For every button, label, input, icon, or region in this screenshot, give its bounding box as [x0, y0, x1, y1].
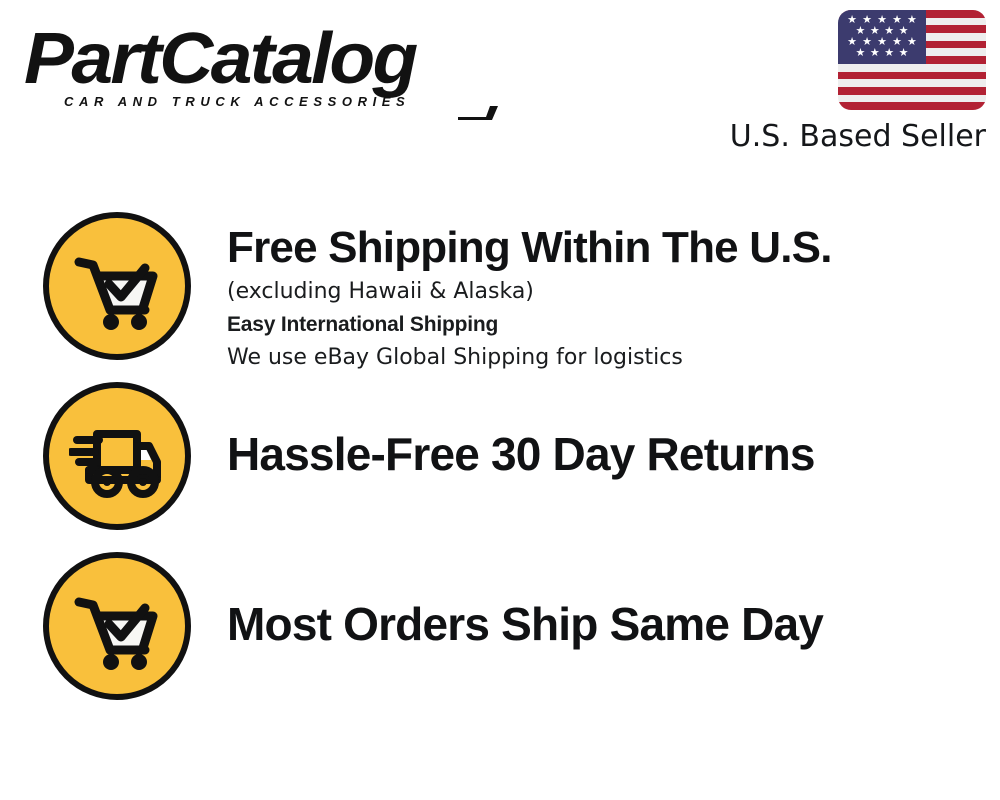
shopping-cart-check-icon	[43, 552, 191, 700]
feature-row: Hassle-Free 30 Day Returns	[0, 382, 1000, 552]
feature-subtitle: We use eBay Global Shipping for logistic…	[227, 342, 1000, 374]
feature-list: Free Shipping Within The U.S. (excluding…	[0, 212, 1000, 722]
us-based-seller-badge: ★★★★★ ★★★★ ★★★★★ ★★★★ U.S. Based Seller	[696, 10, 986, 155]
shopping-cart-check-icon	[43, 212, 191, 360]
fast-delivery-truck-icon	[43, 382, 191, 530]
us-flag-icon: ★★★★★ ★★★★ ★★★★★ ★★★★	[838, 10, 986, 110]
feature-title: Free Shipping Within The U.S.	[227, 222, 1000, 274]
promo-banner: PartCatalog CAR AND TRUCK ACCESSORIES	[0, 0, 1000, 800]
feature-row: Most Orders Ship Same Day	[0, 552, 1000, 722]
flag-star-row: ★★★★★	[842, 15, 922, 26]
feature-row: Free Shipping Within The U.S. (excluding…	[0, 212, 1000, 382]
flag-star-row: ★★★★	[842, 48, 922, 59]
feature-title: Hassle-Free 30 Day Returns	[227, 428, 1000, 480]
feature-text: Free Shipping Within The U.S. (excluding…	[227, 212, 1000, 374]
flag-canton: ★★★★★ ★★★★ ★★★★★ ★★★★	[838, 10, 926, 64]
us-based-seller-label: U.S. Based Seller	[696, 119, 986, 155]
brand-logo[interactable]: PartCatalog CAR AND TRUCK ACCESSORIES	[24, 22, 494, 122]
logo-swoosh-icon	[456, 104, 498, 120]
feature-text: Hassle-Free 30 Day Returns	[227, 382, 1000, 480]
flag-star-row: ★★★★★	[842, 37, 922, 48]
brand-wordmark: PartCatalog	[24, 22, 513, 96]
feature-title: Most Orders Ship Same Day	[227, 598, 1000, 650]
feature-text: Most Orders Ship Same Day	[227, 552, 1000, 650]
feature-subtitle: (excluding Hawaii & Alaska)	[227, 276, 1000, 308]
feature-subtitle-bold: Easy International Shipping	[227, 308, 1000, 342]
